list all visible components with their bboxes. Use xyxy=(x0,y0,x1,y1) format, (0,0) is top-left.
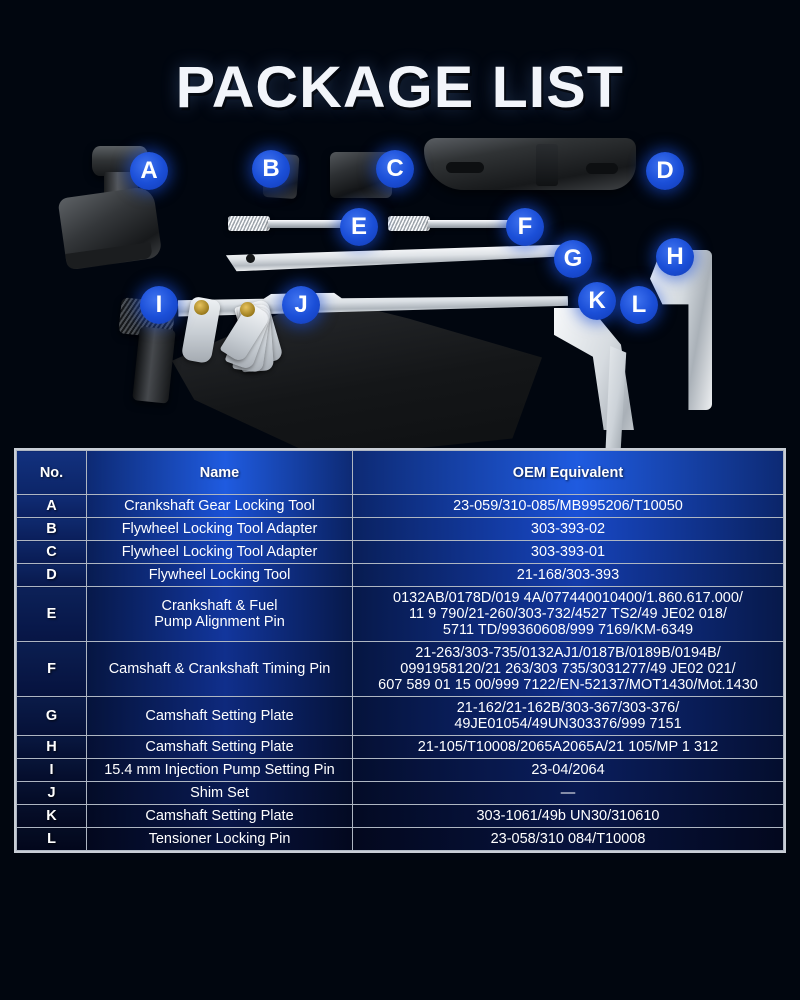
row-name-cell: Crankshaft Gear Locking Tool xyxy=(87,495,353,518)
table-row: GCamshaft Setting Plate21-162/21-162B/30… xyxy=(17,697,784,736)
row-number-cell: G xyxy=(17,697,87,736)
row-name-cell: Tensioner Locking Pin xyxy=(87,828,353,851)
callout-badge-l[interactable]: L xyxy=(620,286,658,324)
row-number-cell: J xyxy=(17,782,87,805)
row-oem-cell: 21-162/21-162B/303-367/303-376/49JE01054… xyxy=(353,697,784,736)
row-oem-cell: 21-263/303-735/0132AJ1/0187B/0189B/0194B… xyxy=(353,642,784,697)
part-f-hole xyxy=(246,254,255,263)
part-j-shim-single-pivot xyxy=(194,300,209,315)
table-row: FCamshaft & Crankshaft Timing Pin21-263/… xyxy=(17,642,784,697)
part-e-pin-2-knurl xyxy=(388,216,430,231)
row-number-cell: K xyxy=(17,805,87,828)
row-oem-cell: 23-058/310 084/T10008 xyxy=(353,828,784,851)
callout-badge-c[interactable]: C xyxy=(376,150,414,188)
row-number-cell: A xyxy=(17,495,87,518)
row-name-cell: Camshaft Setting Plate xyxy=(87,697,353,736)
package-list-table: No. Name OEM Equivalent ACrankshaft Gear… xyxy=(14,448,786,853)
row-name-cell: Flywheel Locking Tool Adapter xyxy=(87,541,353,564)
row-number-cell: I xyxy=(17,759,87,782)
table-row: ECrankshaft & FuelPump Alignment Pin0132… xyxy=(17,587,784,642)
table-row: KCamshaft Setting Plate303-1061/49b UN30… xyxy=(17,805,784,828)
part-f-timing-bar xyxy=(226,244,572,271)
row-number-cell: C xyxy=(17,541,87,564)
header-cell-name: Name xyxy=(87,451,353,495)
callout-badge-a[interactable]: A xyxy=(130,152,168,190)
row-oem-cell: — xyxy=(353,782,784,805)
table-header-row: No. Name OEM Equivalent xyxy=(17,451,784,495)
callout-badge-k[interactable]: K xyxy=(578,282,616,320)
table-row: HCamshaft Setting Plate21-105/T10008/206… xyxy=(17,736,784,759)
table-row: I15.4 mm Injection Pump Setting Pin23-04… xyxy=(17,759,784,782)
part-d-slot-right xyxy=(586,163,618,174)
row-name-cell: Flywheel Locking Tool xyxy=(87,564,353,587)
row-number-cell: L xyxy=(17,828,87,851)
product-photo: OMT Ocean Motor Tech A B C D E F G H I J… xyxy=(0,130,800,448)
table-row: CFlywheel Locking Tool Adapter303-393-01 xyxy=(17,541,784,564)
part-d-slot-left xyxy=(446,162,484,173)
callout-badge-f[interactable]: F xyxy=(506,208,544,246)
table-row: DFlywheel Locking Tool21-168/303-393 xyxy=(17,564,784,587)
row-name-cell: Shim Set xyxy=(87,782,353,805)
row-name-cell: Flywheel Locking Tool Adapter xyxy=(87,518,353,541)
row-number-cell: E xyxy=(17,587,87,642)
part-e-pin-1-knurl xyxy=(228,216,270,231)
callout-badge-d[interactable]: D xyxy=(646,152,684,190)
row-number-cell: D xyxy=(17,564,87,587)
callout-badge-j[interactable]: J xyxy=(282,286,320,324)
part-i-injection-pin-body xyxy=(132,326,176,403)
callout-badge-h[interactable]: H xyxy=(656,238,694,276)
page-title: PACKAGE LIST xyxy=(176,54,624,121)
row-oem-cell: 21-168/303-393 xyxy=(353,564,784,587)
part-d-tab xyxy=(536,144,558,186)
row-oem-cell: 23-059/310-085/MB995206/T10050 xyxy=(353,495,784,518)
row-oem-cell: 21-105/T10008/2065A2065A/21 105/MP 1 312 xyxy=(353,736,784,759)
row-number-cell: F xyxy=(17,642,87,697)
table-row: JShim Set— xyxy=(17,782,784,805)
package-list-page: PACKAGE LIST xyxy=(0,0,800,1000)
row-oem-cell: 303-393-02 xyxy=(353,518,784,541)
row-number-cell: H xyxy=(17,736,87,759)
row-oem-cell: 303-1061/49b UN30/310610 xyxy=(353,805,784,828)
part-e-pin-2-rod xyxy=(428,220,514,228)
row-name-cell: Camshaft Setting Plate xyxy=(87,805,353,828)
table-row: LTensioner Locking Pin23-058/310 084/T10… xyxy=(17,828,784,851)
row-oem-cell: 0132AB/0178D/019 4A/077440010400/1.860.6… xyxy=(353,587,784,642)
header-cell-oem: OEM Equivalent xyxy=(353,451,784,495)
row-name-cell: 15.4 mm Injection Pump Setting Pin xyxy=(87,759,353,782)
row-name-cell: Camshaft & Crankshaft Timing Pin xyxy=(87,642,353,697)
table-row: BFlywheel Locking Tool Adapter303-393-02 xyxy=(17,518,784,541)
row-name-cell: Camshaft Setting Plate xyxy=(87,736,353,759)
table-row: ACrankshaft Gear Locking Tool23-059/310-… xyxy=(17,495,784,518)
callout-badge-b[interactable]: B xyxy=(252,150,290,188)
callout-badge-g[interactable]: G xyxy=(554,240,592,278)
row-name-cell: Crankshaft & FuelPump Alignment Pin xyxy=(87,587,353,642)
row-oem-cell: 23-04/2064 xyxy=(353,759,784,782)
callout-badge-i[interactable]: I xyxy=(140,286,178,324)
row-number-cell: B xyxy=(17,518,87,541)
part-j-shim-pivot xyxy=(240,302,255,317)
row-oem-cell: 303-393-01 xyxy=(353,541,784,564)
callout-badge-e[interactable]: E xyxy=(340,208,378,246)
storage-case xyxy=(172,296,542,458)
page-title-container: PACKAGE LIST xyxy=(0,54,800,121)
header-cell-no: No. xyxy=(17,451,87,495)
